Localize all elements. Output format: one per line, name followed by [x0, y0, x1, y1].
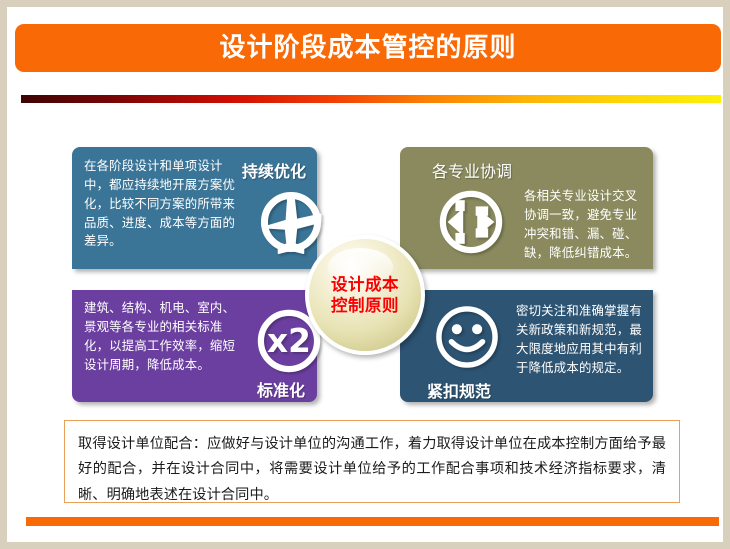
quadrant-body-text: 在各阶段设计和单项设计中，都应持续地开展方案优化，比较不同方案的所带来品质、进度… [84, 157, 236, 251]
quadrant-bottom-left[interactable]: 建筑、结构、机电、室内、景观等各专业的相关标准化，以提高工作效率，缩短设计周期，… [72, 290, 317, 402]
slide: 设计阶段成本管控的原则 在各阶段设计和单项设计中，都应持续地开展方案优化，比较不… [0, 0, 730, 549]
quadrant-top-right[interactable]: 各专业协调 各相关专业设计交叉协调一致，避免专业冲突和错、漏、碰、缺，降低纠错成… [400, 147, 653, 269]
smiley-circle-icon [428, 298, 506, 376]
quadrant-title: 紧扣规范 [427, 378, 491, 402]
quadrant-top-left[interactable]: 在各阶段设计和单项设计中，都应持续地开展方案优化，比较不同方案的所带来品质、进度… [72, 147, 317, 269]
footnote-text: 取得设计单位配合：应做好与设计单位的沟通工作，着力取得设计单位在成本控制方面给予… [78, 432, 666, 508]
quadrant-bottom-right[interactable]: 紧扣规范 密切关注和准确掌握有关新政策和新规范，最大限度地应用其中有利于降低成本… [400, 290, 653, 402]
quadrant-body-text: 各相关专业设计交叉协调一致，避免专业冲突和错、漏、碰、缺，降低纠错成本。 [524, 187, 644, 262]
quadrant-title: 各专业协调 [432, 158, 512, 182]
quadrant-body-text: 密切关注和准确掌握有关新政策和新规范，最大限度地应用其中有利于降低成本的规定。 [516, 302, 644, 377]
airplane-circle-icon [252, 183, 330, 261]
quadrant-title: 持续优化 [242, 158, 306, 182]
svg-text:x2: x2 [267, 322, 311, 360]
quadrant-title: 标准化 [257, 377, 305, 401]
quadrant-body-text: 建筑、结构、机电、室内、景观等各专业的相关标准化，以提高工作效率，缩短设计周期，… [84, 299, 244, 374]
center-label-line2: 控制原则 [331, 295, 399, 316]
bottom-accent-bar [26, 517, 719, 526]
coordination-circle-icon [432, 183, 510, 261]
footnote-box: 取得设计单位配合：应做好与设计单位的沟通工作，着力取得设计单位在成本控制方面给予… [64, 420, 680, 503]
center-principle-circle[interactable]: 设计成本 控制原则 [305, 235, 425, 355]
center-label-line1: 设计成本 [331, 274, 399, 295]
